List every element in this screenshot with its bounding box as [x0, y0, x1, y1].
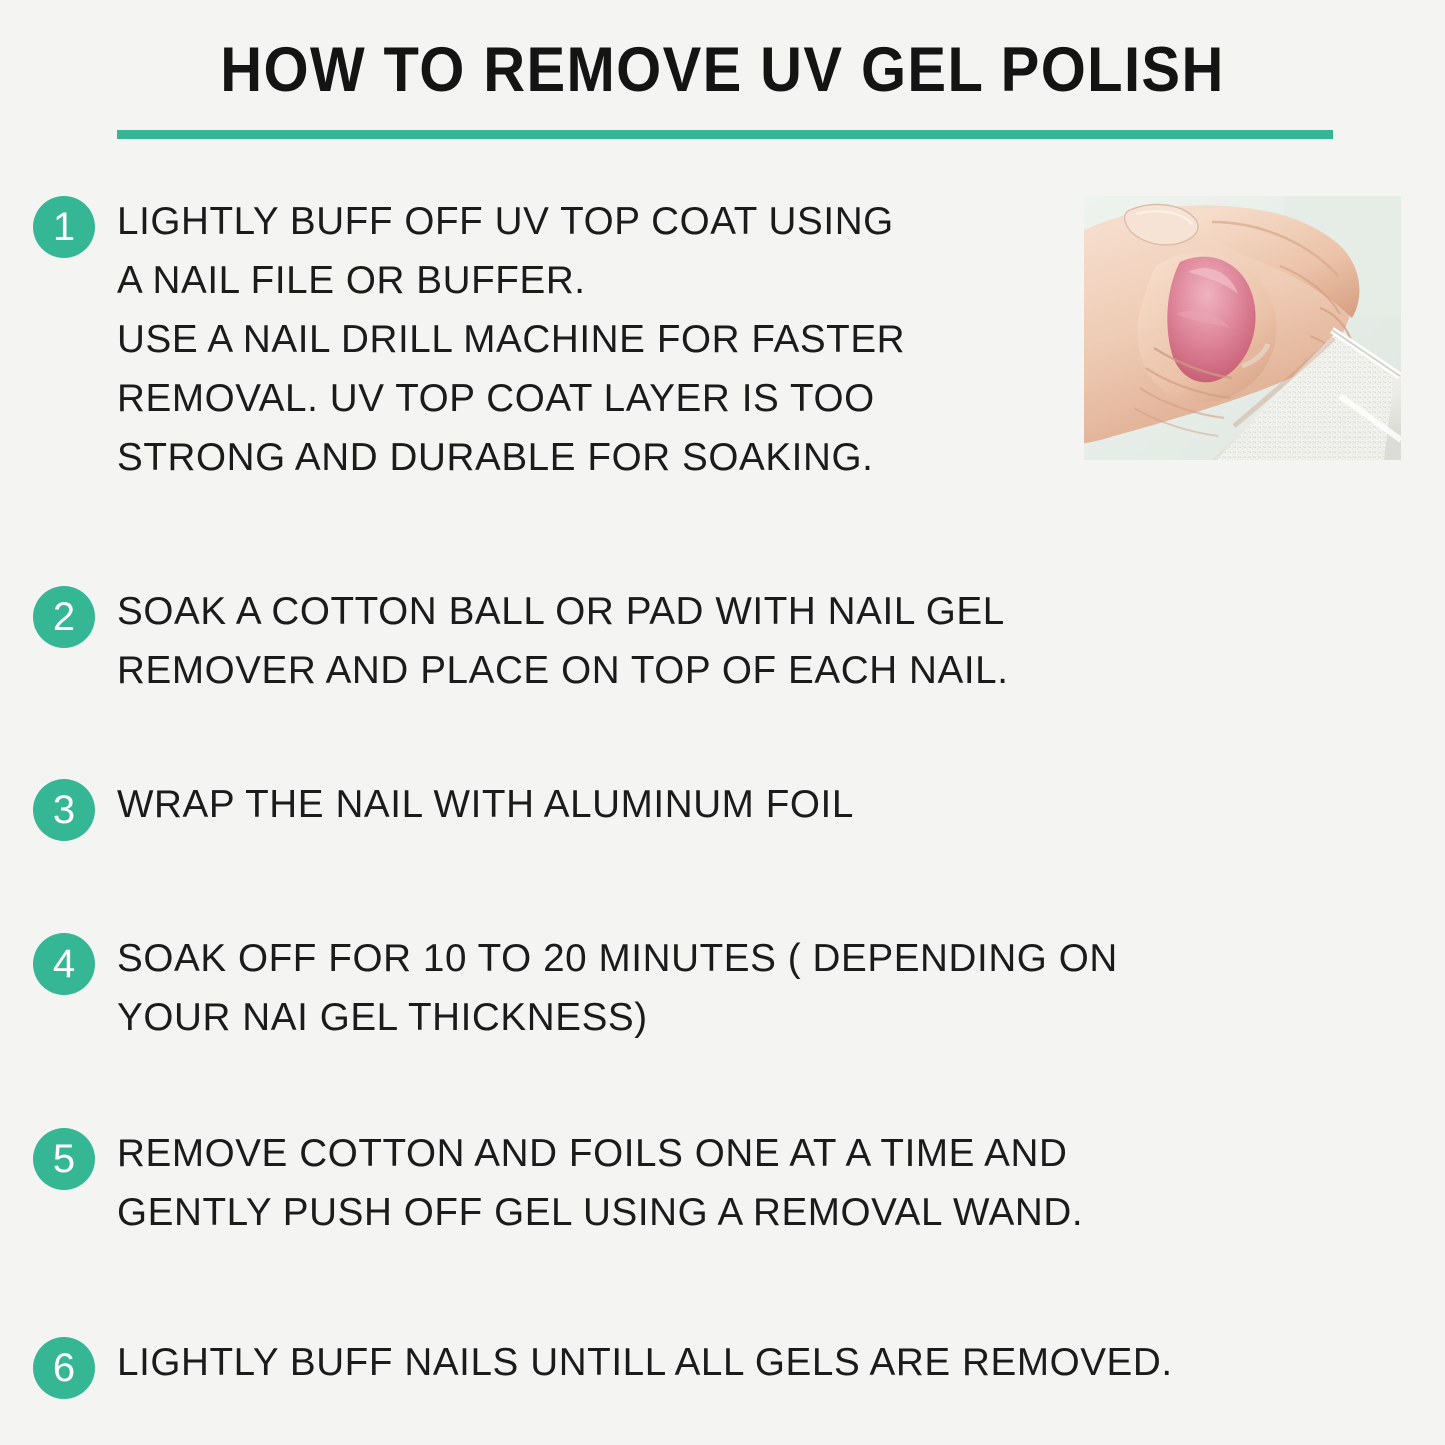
step-number-badge-4: 4 — [33, 933, 95, 995]
nail-buffing-photo — [1084, 196, 1401, 460]
step-number-badge-5: 5 — [33, 1128, 95, 1190]
step-text-5: REMOVE COTTON AND FOILS ONE AT A TIME AN… — [117, 1124, 1404, 1242]
step-text-3: WRAP THE NAIL WITH ALUMINUM FOIL — [117, 775, 1394, 834]
step-text-6: LIGHTLY BUFF NAILS UNTILL ALL GELS ARE R… — [117, 1333, 1424, 1392]
step-number-badge-6: 6 — [33, 1337, 95, 1399]
step-text-4: SOAK OFF FOR 10 TO 20 MINUTES ( DEPENDIN… — [117, 929, 1404, 1047]
step-number-badge-2: 2 — [33, 586, 95, 648]
step-number-badge-3: 3 — [33, 779, 95, 841]
nail-buffing-illustration — [1084, 196, 1401, 460]
step-text-1: LIGHTLY BUFF OFF UV TOP COAT USING A NAI… — [117, 192, 1067, 487]
step-text-2: SOAK A COTTON BALL OR PAD WITH NAIL GEL … — [117, 582, 1394, 700]
step-number-badge-1: 1 — [33, 196, 95, 258]
